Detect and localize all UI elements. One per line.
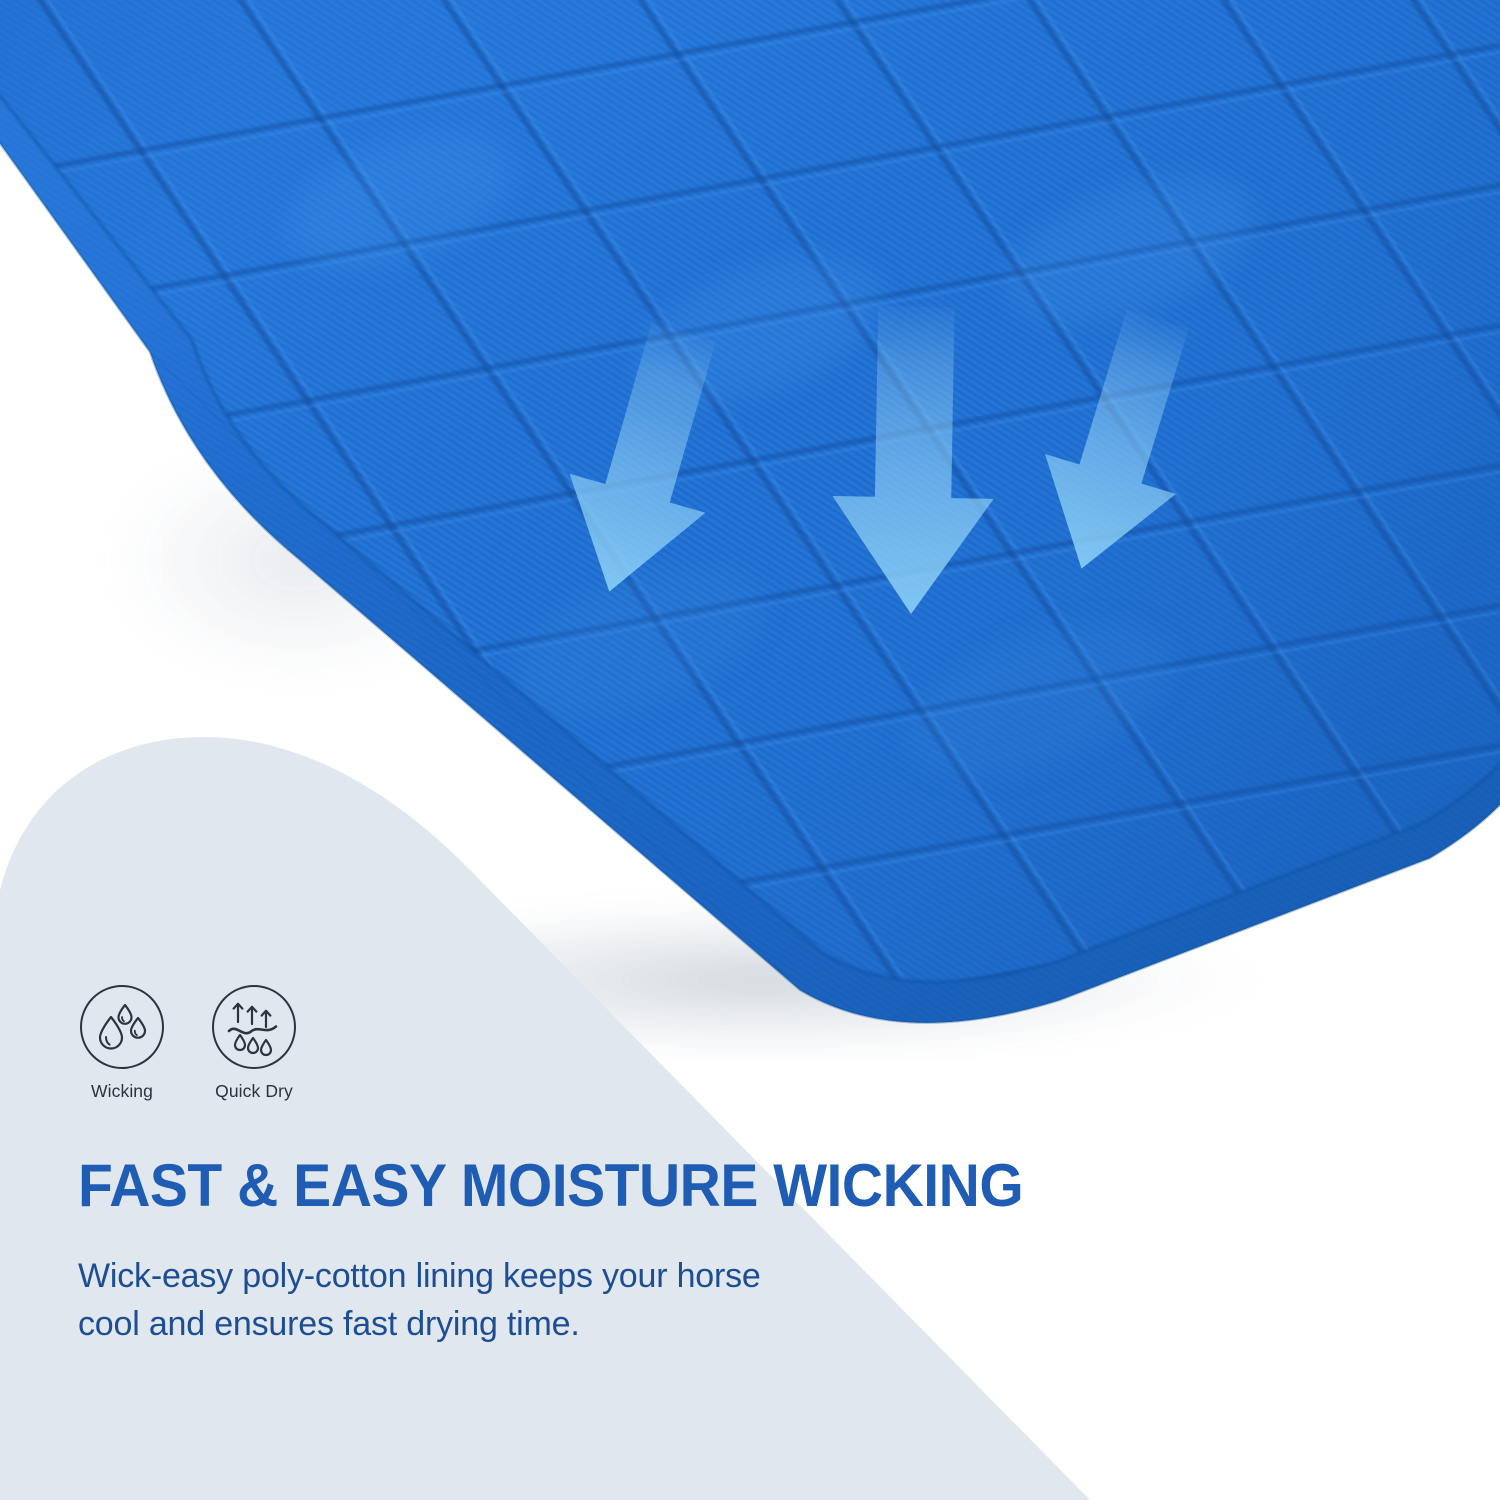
info-panel-content: Wicking [0, 640, 1500, 1500]
quick-dry-badge-ring [212, 985, 296, 1069]
feature-badges: Wicking [78, 985, 298, 1102]
marketing-image-stage: Wicking [0, 0, 1500, 1500]
badge-label-quick-dry: Quick Dry [215, 1081, 293, 1102]
subcopy-line-2: cool and ensures fast drying time. [78, 1300, 838, 1348]
badge-label-wicking: Wicking [91, 1081, 153, 1102]
headline-text: FAST & EASY MOISTURE WICKING [78, 1156, 1023, 1216]
badge-wicking: Wicking [78, 985, 166, 1102]
quick-dry-icon [224, 997, 284, 1057]
wicking-badge-ring [80, 985, 164, 1069]
badge-quick-dry: Quick Dry [210, 985, 298, 1102]
subcopy-text: Wick-easy poly-cotton lining keeps your … [78, 1252, 838, 1349]
subcopy-line-1: Wick-easy poly-cotton lining keeps your … [78, 1252, 838, 1300]
water-droplets-icon [92, 997, 152, 1057]
